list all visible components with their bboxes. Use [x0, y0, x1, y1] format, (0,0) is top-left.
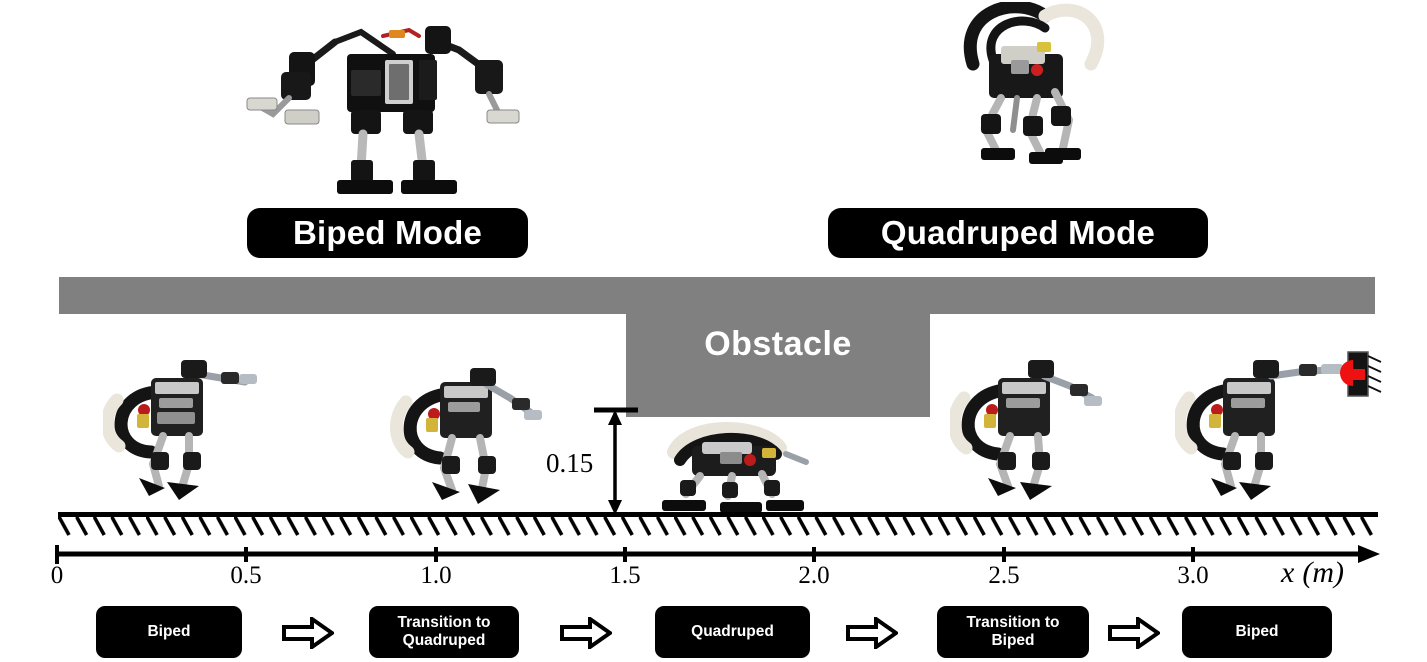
mode-label-biped: Biped Mode	[247, 208, 528, 258]
robot-pose-biped-1	[103, 352, 263, 512]
robot-pose-transition-biped	[950, 352, 1110, 512]
x-tick-3_0: 3.0	[1177, 562, 1208, 590]
clearance-value: 0.15	[546, 448, 593, 479]
phase-pill-biped-1: Biped	[96, 606, 242, 658]
flow-arrow-right-icon-4	[1108, 617, 1160, 649]
phase-pill-biped-2-label: Biped	[1235, 623, 1278, 641]
phase-pill-biped-1-label: Biped	[147, 623, 190, 641]
robot-pose-biped-2	[1175, 350, 1350, 512]
flow-arrow-right-icon-2	[560, 617, 612, 649]
x-tick-2_5: 2.5	[988, 562, 1019, 590]
ground-hatching	[58, 515, 1378, 537]
x-tick-1_5: 1.5	[609, 562, 640, 590]
robot-photo-quadruped-mode	[905, 2, 1135, 202]
phase-pill-transition-biped-label: Transition to Biped	[967, 614, 1060, 650]
robot-photo-biped-mode	[243, 2, 543, 202]
mode-label-biped-text: Biped Mode	[293, 214, 482, 252]
phase-flow-row: Biped Transition to Quadruped Quadruped …	[0, 606, 1427, 662]
flow-arrow-right-icon-1	[282, 617, 334, 649]
mode-label-quadruped: Quadruped Mode	[828, 208, 1208, 258]
x-tick-0_5: 0.5	[230, 562, 261, 590]
x-axis-symbol: x	[1281, 556, 1294, 589]
x-tick-1_0: 1.0	[420, 562, 451, 590]
ceiling-bar	[59, 277, 1375, 314]
x-tick-2_0: 2.0	[798, 562, 829, 590]
target-gripper-icon	[1333, 348, 1393, 402]
x-tick-0: 0	[51, 562, 64, 590]
phase-pill-quadruped: Quadruped	[655, 606, 810, 658]
x-axis-unit: (m)	[1302, 556, 1344, 589]
obstacle-label: Obstacle	[626, 325, 930, 364]
phase-pill-quadruped-label: Quadruped	[691, 623, 774, 641]
flow-arrow-right-icon-3	[846, 617, 898, 649]
mode-label-quadruped-text: Quadruped Mode	[881, 214, 1155, 252]
phase-pill-biped-2: Biped	[1182, 606, 1332, 658]
x-axis-label: x(m)	[1281, 556, 1344, 590]
phase-pill-transition-quadruped: Transition to Quadruped	[369, 606, 519, 658]
robot-pose-quadruped	[640, 418, 830, 518]
phase-pill-transition-quadruped-label: Transition to Quadruped	[398, 614, 491, 650]
phase-pill-transition-biped: Transition to Biped	[937, 606, 1089, 658]
figure-canvas: Biped Mode Quadruped Mode Obstacle	[0, 0, 1427, 662]
robot-pose-transition-quadruped	[390, 358, 550, 518]
x-axis	[0, 536, 1427, 576]
